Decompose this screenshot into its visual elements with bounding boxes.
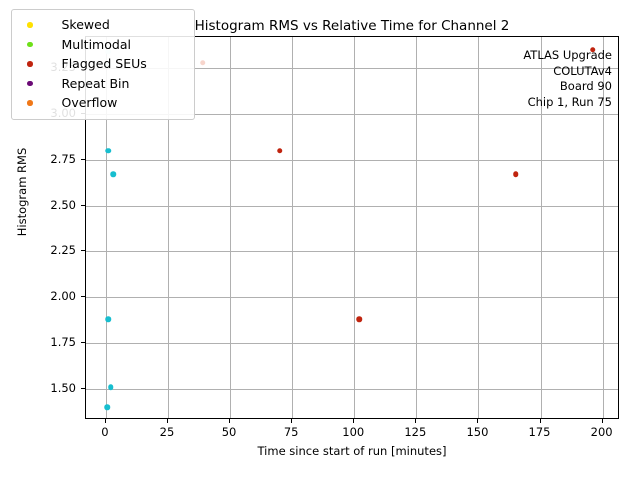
y-tick-mark	[81, 250, 85, 251]
grid-line-vertical	[478, 37, 479, 418]
y-tick-mark	[81, 342, 85, 343]
legend-item-skewed[interactable]: Skewed	[18, 15, 188, 35]
figure-canvas: Histogram RMS vs Relative Time for Chann…	[0, 0, 640, 480]
legend-item-repeat-bin[interactable]: Repeat Bin	[18, 74, 188, 94]
x-axis-label: Time since start of run [minutes]	[85, 444, 619, 458]
x-tick-label: 175	[529, 425, 551, 439]
data-point	[104, 404, 110, 410]
x-tick-mark	[229, 419, 230, 423]
y-tick-mark	[81, 296, 85, 297]
legend-swatch-icon	[27, 61, 33, 67]
grid-line-horizontal	[86, 389, 618, 390]
y-tick-label: 1.50	[50, 381, 76, 395]
y-tick-label: 2.25	[50, 243, 76, 257]
annotation-block: ATLAS Upgrade COLUTAv4 Board 90 Chip 1, …	[523, 48, 612, 110]
x-tick-mark	[540, 419, 541, 423]
annotation-line-2: COLUTAv4	[553, 64, 612, 78]
x-tick-mark	[602, 419, 603, 423]
y-tick-mark	[81, 205, 85, 206]
legend-item-overflow[interactable]: Overflow	[18, 93, 188, 113]
x-tick-mark	[105, 419, 106, 423]
grid-line-vertical	[292, 37, 293, 418]
x-tick-label: 0	[101, 425, 108, 439]
y-tick-label: 2.00	[50, 289, 76, 303]
grid-line-vertical	[354, 37, 355, 418]
annotation-line-4: Chip 1, Run 75	[528, 95, 612, 109]
data-point	[200, 60, 206, 66]
legend-swatch-icon	[27, 100, 33, 106]
grid-line-horizontal	[86, 343, 618, 344]
grid-line-horizontal	[86, 160, 618, 161]
x-tick-mark	[353, 419, 354, 423]
legend-item-label: Skewed	[62, 17, 110, 32]
data-point	[356, 316, 362, 322]
legend-swatch-icon	[27, 22, 33, 28]
y-tick-label: 1.75	[50, 335, 76, 349]
x-tick-mark	[291, 419, 292, 423]
data-point	[277, 148, 283, 154]
legend-swatch-icon	[27, 81, 33, 87]
legend-item-label: Multimodal	[62, 37, 131, 52]
legend[interactable]: SkewedMultimodalFlagged SEUsRepeat BinOv…	[11, 9, 195, 120]
y-tick-mark	[81, 388, 85, 389]
data-point	[106, 316, 112, 322]
x-tick-mark	[477, 419, 478, 423]
data-point	[106, 148, 112, 154]
x-tick-mark	[415, 419, 416, 423]
y-axis-label: Histogram RMS	[15, 102, 29, 282]
grid-line-horizontal	[86, 251, 618, 252]
legend-item-flagged-seus[interactable]: Flagged SEUs	[18, 54, 188, 74]
legend-item-label: Flagged SEUs	[62, 56, 147, 71]
x-tick-label: 25	[160, 425, 175, 439]
data-point	[513, 172, 519, 178]
annotation-line-3: Board 90	[560, 79, 612, 93]
grid-line-horizontal	[86, 297, 618, 298]
x-tick-mark	[167, 419, 168, 423]
legend-item-label: Overflow	[62, 95, 118, 110]
y-tick-mark	[81, 159, 85, 160]
x-tick-label: 200	[591, 425, 613, 439]
grid-line-vertical	[416, 37, 417, 418]
y-tick-label: 2.75	[50, 152, 76, 166]
legend-swatch-icon	[27, 42, 33, 48]
annotation-line-1: ATLAS Upgrade	[523, 48, 612, 62]
x-tick-label: 50	[222, 425, 237, 439]
grid-line-horizontal	[86, 206, 618, 207]
x-tick-label: 100	[342, 425, 364, 439]
data-point	[111, 172, 117, 178]
x-tick-label: 125	[404, 425, 426, 439]
legend-item-label: Repeat Bin	[62, 76, 130, 91]
x-tick-label: 150	[466, 425, 488, 439]
y-tick-label: 2.50	[50, 198, 76, 212]
legend-item-multimodal[interactable]: Multimodal	[18, 35, 188, 55]
x-tick-label: 75	[284, 425, 299, 439]
data-point	[108, 384, 114, 390]
grid-line-vertical	[230, 37, 231, 418]
